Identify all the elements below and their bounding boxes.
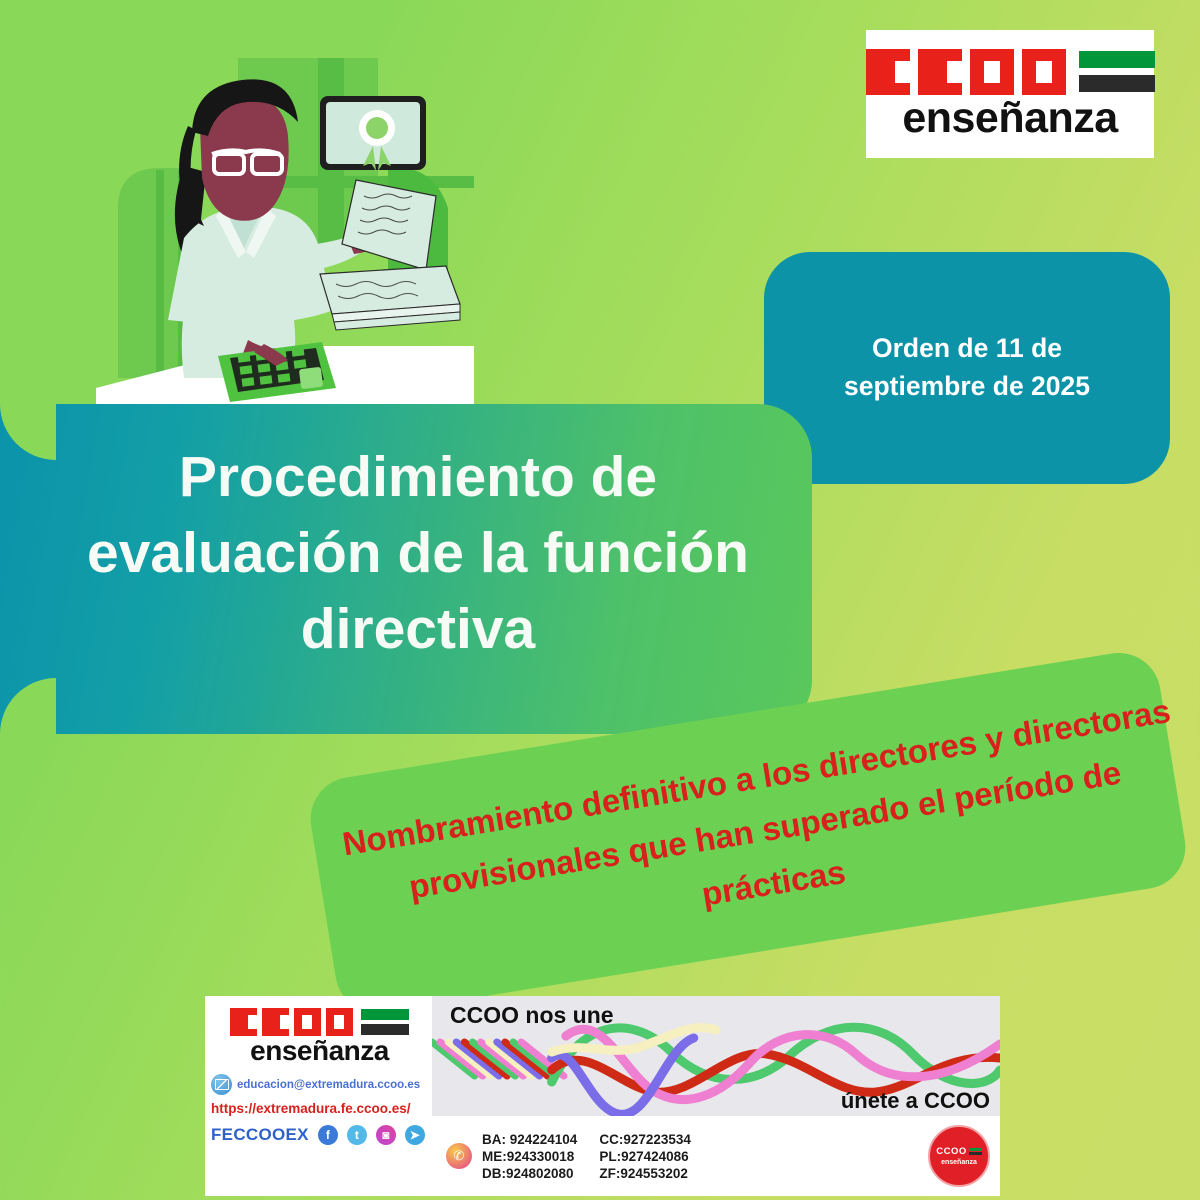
footer-flag-green <box>361 1009 409 1020</box>
facebook-icon[interactable]: f <box>318 1125 338 1145</box>
logo-letter-o1 <box>970 49 1014 95</box>
phone-cc: CC:927223534 <box>599 1132 691 1147</box>
flag-stripe-green <box>1079 51 1155 68</box>
phone-db: DB:924802080 <box>482 1166 577 1181</box>
envelope-icon <box>211 1074 232 1095</box>
footer-banner: enseñanza educacion@extremadura.ccoo.es … <box>205 996 1000 1196</box>
social-row: FECCOOEX f t ◙ ➤ <box>211 1125 428 1145</box>
footer-ccoo-letters <box>230 1008 353 1036</box>
website-url[interactable]: https://extremadura.fe.ccoo.es/ <box>211 1101 428 1116</box>
footer-contact-block: enseñanza educacion@extremadura.ccoo.es … <box>205 996 432 1196</box>
campaign-tagline-bottom: únete a CCOO <box>841 1088 990 1114</box>
footer-ccoo-logo: enseñanza <box>211 1008 428 1065</box>
title-band: Procedimiento de evaluación de la funció… <box>0 404 812 734</box>
footer-letter-c2 <box>262 1008 289 1036</box>
phone-column-1: BA: 924224104 ME:924330018 DB:924802080 <box>482 1132 577 1181</box>
seal-word: enseñanza <box>941 1159 977 1166</box>
logo-letter-c2 <box>918 49 962 95</box>
instagram-icon[interactable]: ◙ <box>376 1125 396 1145</box>
phone-me: ME:924330018 <box>482 1149 577 1164</box>
seal-flag-icon <box>969 1148 982 1155</box>
logo-top-row <box>866 49 1155 95</box>
footer-letter-o1 <box>294 1008 321 1036</box>
ccoo-letters <box>866 49 1066 95</box>
seal-row: CCOO <box>936 1146 982 1157</box>
footer-campaign-block: CCOO nos une únete a CCOO ✆ BA: 92422410… <box>432 996 1000 1196</box>
order-date-badge: Orden de 11 de septiembre de 2025 <box>764 252 1170 484</box>
footer-flag-dark <box>361 1024 409 1035</box>
email-line[interactable]: educacion@extremadura.ccoo.es <box>211 1074 428 1095</box>
ccoo-round-seal: CCOO enseñanza <box>928 1125 990 1187</box>
phone-columns: BA: 924224104 ME:924330018 DB:924802080 … <box>482 1132 691 1181</box>
campaign-tagline-top: CCOO nos une <box>450 1002 614 1029</box>
illustration-woman-reviewing-documents <box>88 58 474 414</box>
phone-pl: PL:927424086 <box>599 1149 691 1164</box>
email-address[interactable]: educacion@extremadura.ccoo.es <box>237 1079 420 1091</box>
phone-list-block: ✆ BA: 924224104 ME:924330018 DB:92480208… <box>432 1116 1000 1196</box>
page-title: Procedimiento de evaluación de la funció… <box>86 440 750 667</box>
footer-letter-o2 <box>326 1008 353 1036</box>
phone-ba: BA: 924224104 <box>482 1132 577 1147</box>
footer-letter-c1 <box>230 1008 257 1036</box>
footer-logo-word: enseñanza <box>250 1037 389 1065</box>
social-handle: FECCOOEX <box>211 1125 309 1145</box>
extremadura-flag-icon <box>1079 51 1155 92</box>
ccoo-ensenanza-logo: enseñanza <box>866 30 1154 158</box>
logo-word: enseñanza <box>902 97 1117 140</box>
phone-icon: ✆ <box>446 1143 472 1169</box>
campaign-wave-banner: CCOO nos une únete a CCOO <box>432 996 1000 1116</box>
poster-canvas: enseñanza Orden de 11 de septiembre de 2… <box>0 0 1200 1200</box>
flag-stripe-dark <box>1079 75 1155 92</box>
phone-zf: ZF:924553202 <box>599 1166 691 1181</box>
telegram-icon[interactable]: ➤ <box>405 1125 425 1145</box>
phone-column-2: CC:927223534 PL:927424086 ZF:924553202 <box>599 1132 691 1181</box>
logo-letter-c1 <box>866 49 910 95</box>
logo-letter-o2 <box>1022 49 1066 95</box>
order-date-text: Orden de 11 de septiembre de 2025 <box>817 330 1117 405</box>
twitter-icon[interactable]: t <box>347 1125 367 1145</box>
footer-logo-row <box>230 1008 409 1036</box>
illustration-svg <box>88 58 474 414</box>
seal-ccoo-text: CCOO <box>936 1146 967 1157</box>
footer-flag-icon <box>361 1009 409 1035</box>
